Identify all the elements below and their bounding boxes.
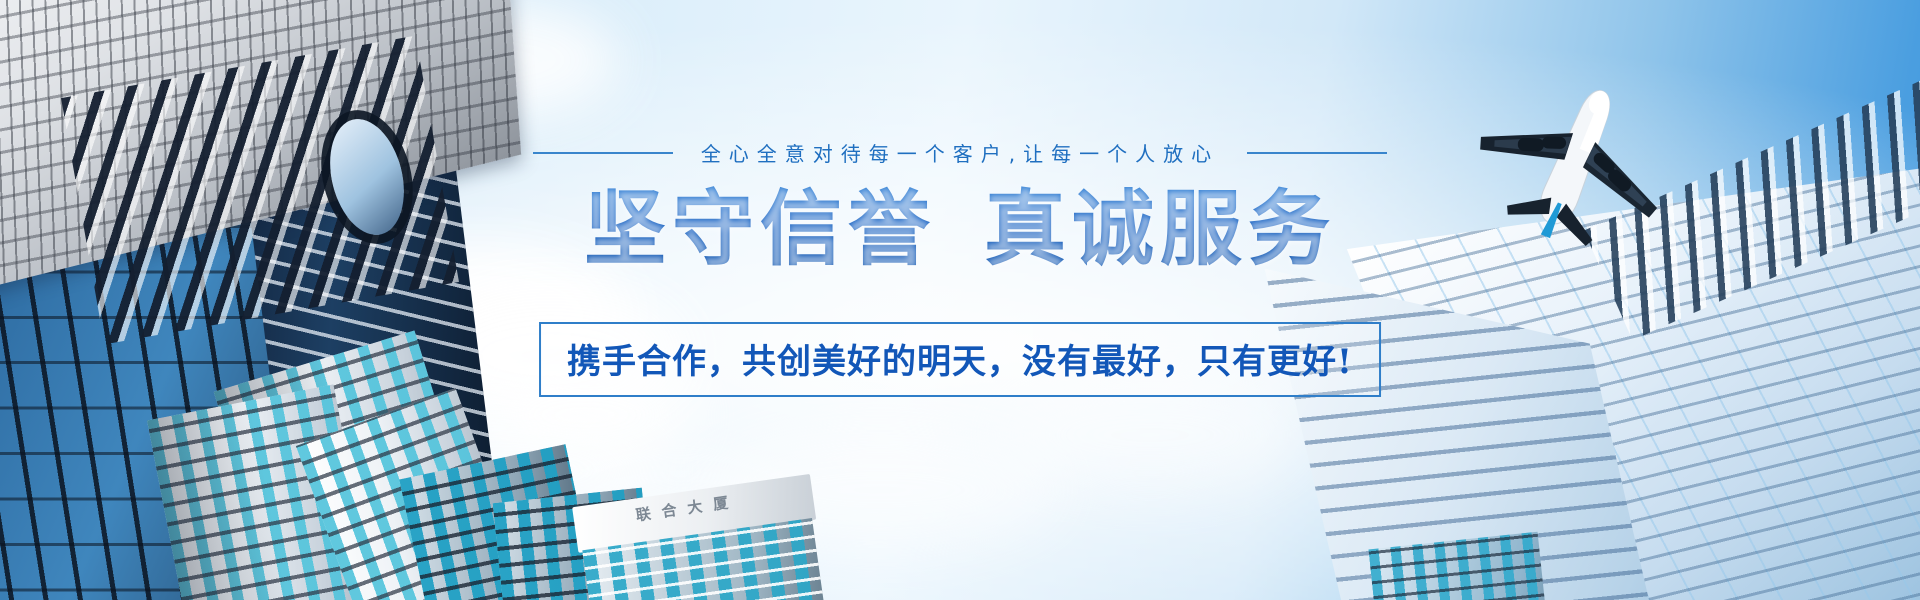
- tagline-rule-right: [1247, 152, 1387, 154]
- tagline-row: 全心全意对待每一个客户,让每一个人放心: [0, 138, 1920, 167]
- hero-banner: 联合大厦: [0, 0, 1920, 600]
- tagline-text: 全心全意对待每一个客户,让每一个人放心: [701, 138, 1219, 167]
- headline: 坚守信誉真诚服务: [0, 184, 1920, 276]
- tagline-rule-left: [533, 152, 673, 154]
- headline-part-right: 真诚服务: [984, 181, 1336, 277]
- subtitle-text: 携手合作，共创美好的明天，没有最好，只有更好!: [567, 334, 1353, 383]
- headline-part-left: 坚守信誉: [584, 181, 936, 277]
- subtitle-box: 携手合作，共创美好的明天，没有最好，只有更好!: [539, 322, 1381, 397]
- banner-text-block: 全心全意对待每一个客户,让每一个人放心 坚守信誉真诚服务 携手合作，共创美好的明…: [0, 0, 1920, 600]
